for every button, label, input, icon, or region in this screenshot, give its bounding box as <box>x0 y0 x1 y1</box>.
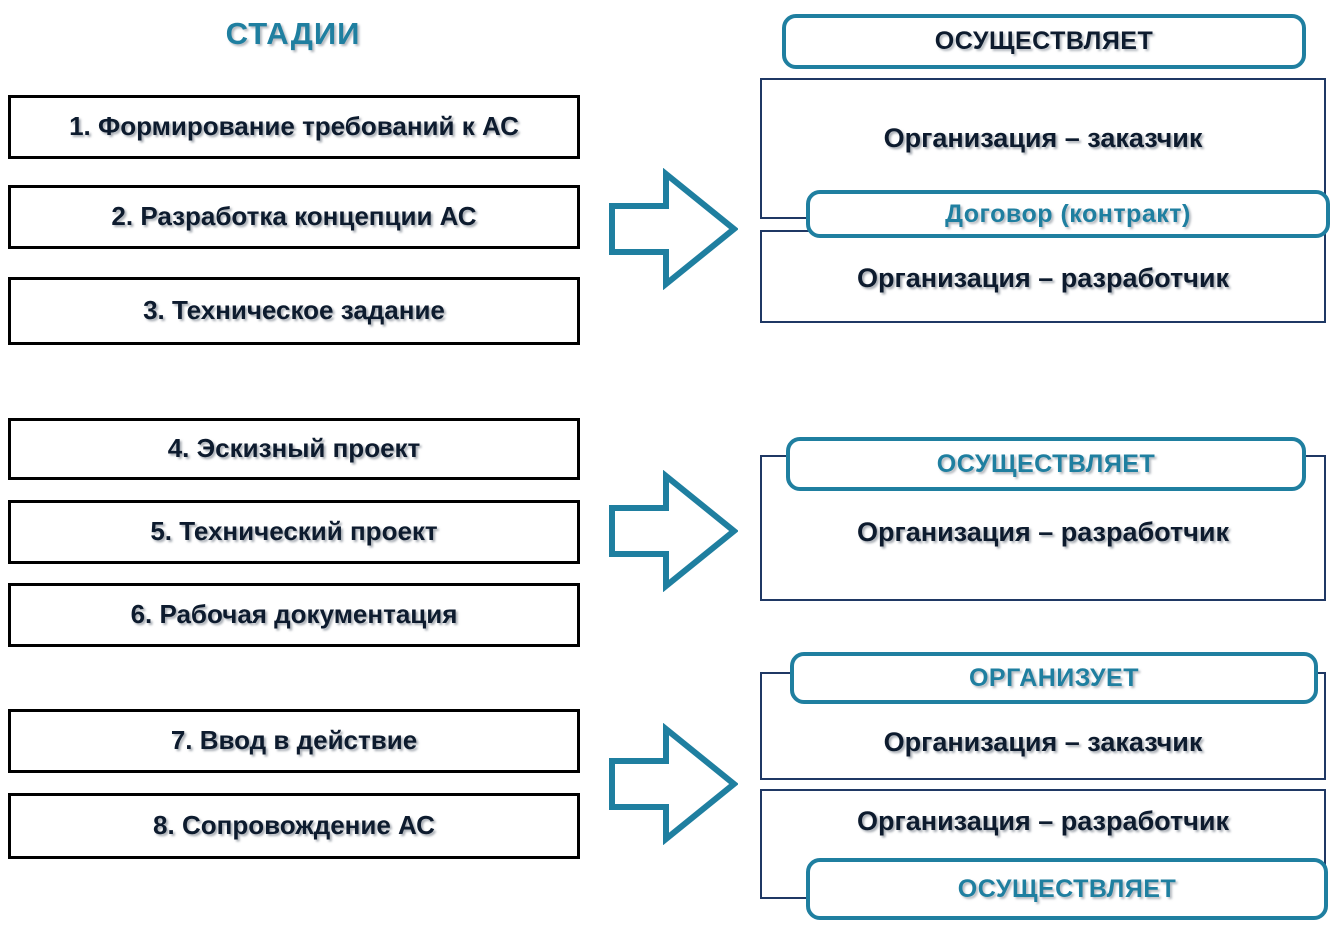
stage-box-5[interactable]: 5. Технический проект <box>8 500 580 564</box>
stage-box-1[interactable]: 1. Формирование требований к АС <box>8 95 580 159</box>
stage-box-7[interactable]: 7. Ввод в действие <box>8 709 580 773</box>
right-arrow-icon-3 <box>608 723 738 845</box>
relation-pill-performs-3[interactable]: ОСУЩЕСТВЛЯЕТ <box>806 858 1328 920</box>
actor-label-developer-3: Организация – разработчик <box>760 801 1326 841</box>
relation-pill-organizes-3[interactable]: ОРГАНИЗУЕТ <box>790 652 1318 704</box>
stage-box-8[interactable]: 8. Сопровождение АС <box>8 793 580 859</box>
relation-pill-contract[interactable]: Договор (контракт) <box>806 190 1330 238</box>
stage-box-2[interactable]: 2. Разработка концепции АС <box>8 185 580 249</box>
stage-box-4[interactable]: 4. Эскизный проект <box>8 418 580 480</box>
right-arrow-icon-2 <box>608 470 738 592</box>
page-title: СТАДИИ <box>0 16 586 52</box>
actor-label-developer-1: Организация – разработчик <box>760 258 1326 298</box>
right-arrow-icon-1 <box>608 168 738 290</box>
actor-label-customer-1: Организация – заказчик <box>760 118 1326 158</box>
relation-pill-performs-2[interactable]: ОСУЩЕСТВЛЯЕТ <box>786 437 1306 491</box>
actor-label-customer-3: Организация – заказчик <box>760 722 1326 762</box>
stage-box-6[interactable]: 6. Рабочая документация <box>8 583 580 647</box>
stage-box-3[interactable]: 3. Техническое задание <box>8 277 580 345</box>
actor-label-developer-2: Организация – разработчик <box>760 512 1326 552</box>
relation-pill-performs-1[interactable]: ОСУЩЕСТВЛЯЕТ <box>782 14 1306 69</box>
